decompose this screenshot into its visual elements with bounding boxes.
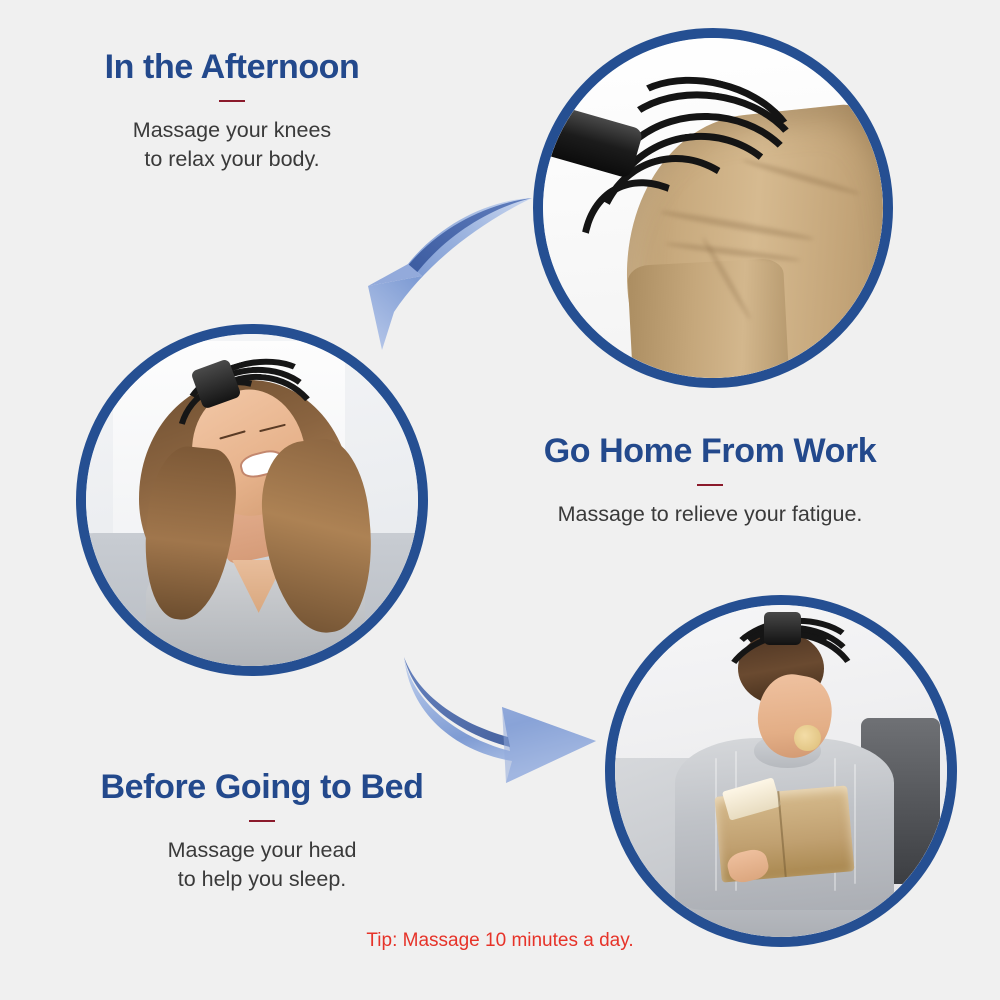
- step-afternoon-description: Massage your knees to relax your body.: [32, 116, 432, 174]
- step-afternoon-description-line2: to relax your body.: [32, 145, 432, 174]
- step-afternoon-heading: In the Afternoon: [32, 48, 432, 86]
- step-after-work-divider: [697, 484, 723, 486]
- massager-handle: [764, 612, 801, 645]
- cookie: [794, 725, 821, 752]
- arrow-head-facet: [502, 707, 596, 783]
- step-afternoon-description-line1: Massage your knees: [32, 116, 432, 145]
- curved-arrow-down-left-icon: [360, 190, 535, 350]
- photo-woman-on-couch-inner: [86, 334, 418, 666]
- photo-massager-on-knee: [533, 28, 893, 388]
- step-before-bed-divider: [249, 820, 275, 822]
- photo-massager-on-knee-inner: [543, 38, 883, 378]
- step-before-bed-description-line1: Massage your head: [22, 836, 502, 865]
- step-after-work-description: Massage to relieve your fatigue.: [460, 500, 960, 529]
- sweater-rib: [854, 764, 856, 884]
- photo-woman-reading: [605, 595, 957, 947]
- step-after-work-text-block: Go Home From Work Massage to relieve you…: [460, 432, 960, 529]
- step-after-work-description-line1: Massage to relieve your fatigue.: [460, 500, 960, 529]
- step-before-bed-description-line2: to help you sleep.: [22, 865, 502, 894]
- curved-arrow-right-icon: [398, 645, 603, 795]
- photo-woman-reading-inner: [615, 605, 947, 937]
- step-after-work-heading: Go Home From Work: [460, 432, 960, 470]
- infographic-canvas: In the Afternoon Massage your knees to r…: [0, 0, 1000, 1000]
- step-afternoon-divider: [219, 100, 245, 102]
- photo-woman-on-couch: [76, 324, 428, 676]
- step-afternoon-text-block: In the Afternoon Massage your knees to r…: [32, 48, 432, 174]
- step-before-bed-description: Massage your head to help you sleep.: [22, 836, 502, 894]
- arrow-body: [404, 657, 596, 783]
